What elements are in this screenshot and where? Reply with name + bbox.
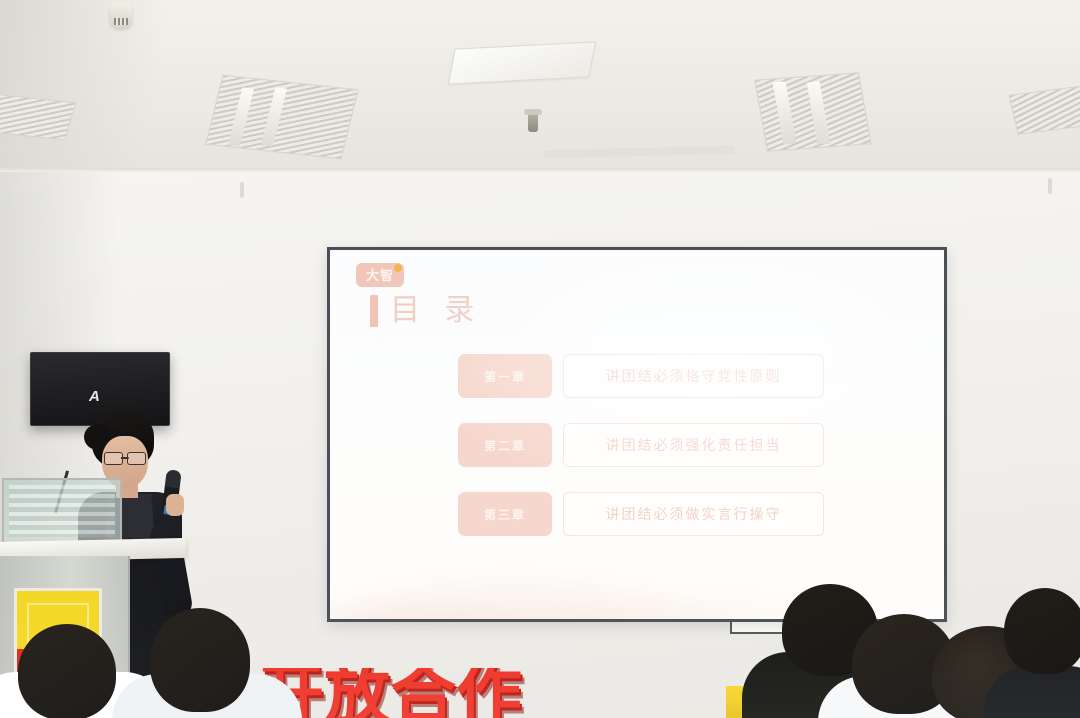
slide-surface: 大智 目 录 第一章 讲团结必须恪守党性原则 第二章 讲团结必须强化责任担当 第…	[330, 250, 944, 619]
wall-hook	[1048, 178, 1052, 194]
chapter-chip: 第三章	[458, 492, 552, 536]
brand-logo: 大智	[356, 263, 404, 287]
wall-hook	[240, 182, 244, 198]
list-item	[18, 624, 116, 718]
toc-list: 第一章 讲团结必须恪守党性原则 第二章 讲团结必须强化责任担当 第三章 讲团结必…	[458, 354, 824, 536]
chapter-heading: 讲团结必须恪守党性原则	[563, 354, 824, 398]
list-item[interactable]: 第二章 讲团结必须强化责任担当	[458, 423, 824, 467]
list-item	[1004, 588, 1080, 674]
chapter-heading: 讲团结必须强化责任担当	[563, 423, 824, 467]
photo-canvas: 大智 目 录 第一章 讲团结必须恪守党性原则 第二章 讲团结必须强化责任担当 第…	[0, 0, 1080, 718]
presenter-hand	[166, 494, 184, 516]
list-item[interactable]: 第三章 讲团结必须做实言行操守	[458, 492, 824, 536]
chapter-heading: 讲团结必须做实言行操守	[563, 492, 824, 536]
eyeglasses-icon	[104, 452, 146, 463]
projection-screen[interactable]: 大智 目 录 第一章 讲团结必须恪守党性原则 第二章 讲团结必须强化责任担当 第…	[327, 247, 947, 622]
list-item	[150, 608, 250, 712]
podium-glass-panel	[2, 478, 122, 544]
page-title: 目 录	[390, 296, 482, 326]
chapter-chip: 第二章	[458, 423, 552, 467]
smoke-detector-icon	[110, 2, 132, 28]
ceiling	[0, 0, 1080, 172]
list-item[interactable]: 第一章 讲团结必须恪守党性原则	[458, 354, 824, 398]
air-vent-left-edge	[0, 93, 76, 140]
air-vent-far-right	[1009, 85, 1080, 135]
brand-logo-text: 大智	[366, 269, 394, 282]
brand-logo-dot-icon	[394, 264, 402, 272]
title-accent-bar-icon	[370, 295, 378, 327]
chapter-chip: 第一章	[458, 354, 552, 398]
speaker-brand-mark: A	[89, 389, 115, 407]
slide-title-row: 目 录	[370, 295, 482, 327]
banner: 开放合作	[258, 668, 718, 718]
sprinkler-head-icon	[528, 112, 538, 132]
